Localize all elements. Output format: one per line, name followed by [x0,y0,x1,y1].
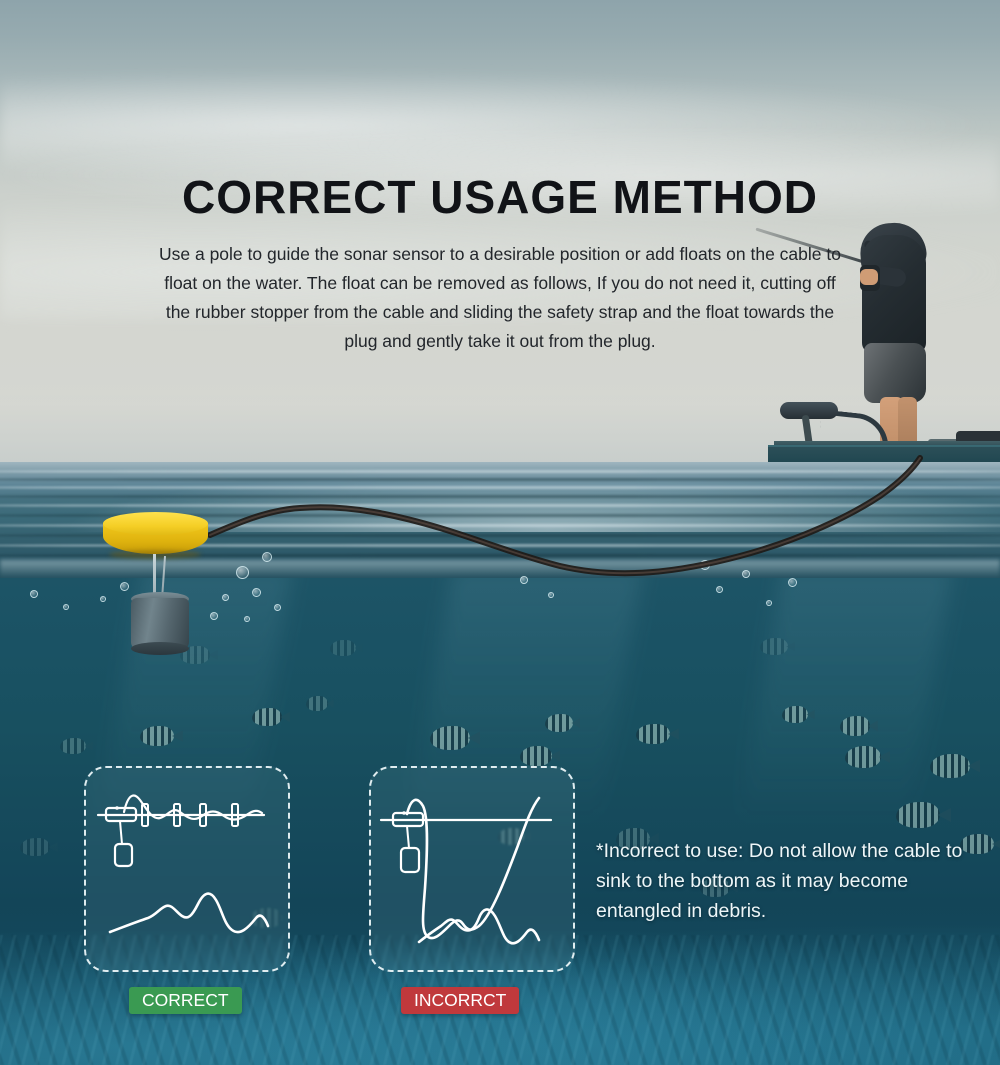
incorrect-diagram-icon [371,768,577,974]
page-title: CORRECT USAGE METHOD [0,170,1000,224]
fish [760,638,788,655]
correct-diagram-icon [86,768,292,974]
diagram-panel-correct[interactable] [84,766,290,972]
badge-correct: CORRECT [129,987,242,1014]
angler-hand [860,269,878,285]
fish [930,754,970,778]
product-infographic: CORRECT USAGE METHOD Use a pole to guide… [0,0,1000,1065]
fish [840,716,870,736]
fish [20,838,50,856]
fish [330,640,356,656]
sensor-base [131,642,189,655]
angler-shorts [864,343,926,403]
fish [896,802,940,828]
fish [636,724,670,744]
trolling-motor-head [780,402,838,419]
fish [545,714,573,732]
fish [430,726,470,750]
fish [140,726,174,746]
fish [60,738,86,754]
angler-torso [862,235,926,353]
diagram-panel-incorrect[interactable] [369,766,575,972]
fish [252,708,282,726]
sonar-float-assembly [103,512,233,652]
warning-note: *Incorrect to use: Do not allow the cabl… [596,836,968,926]
float-disc-top [103,512,208,535]
fish [782,706,808,723]
fish [306,696,328,711]
fish [845,746,881,768]
fish [520,746,552,766]
badge-incorrect: INCORRCT [401,987,519,1014]
intro-paragraph: Use a pole to guide the sonar sensor to … [150,240,850,356]
